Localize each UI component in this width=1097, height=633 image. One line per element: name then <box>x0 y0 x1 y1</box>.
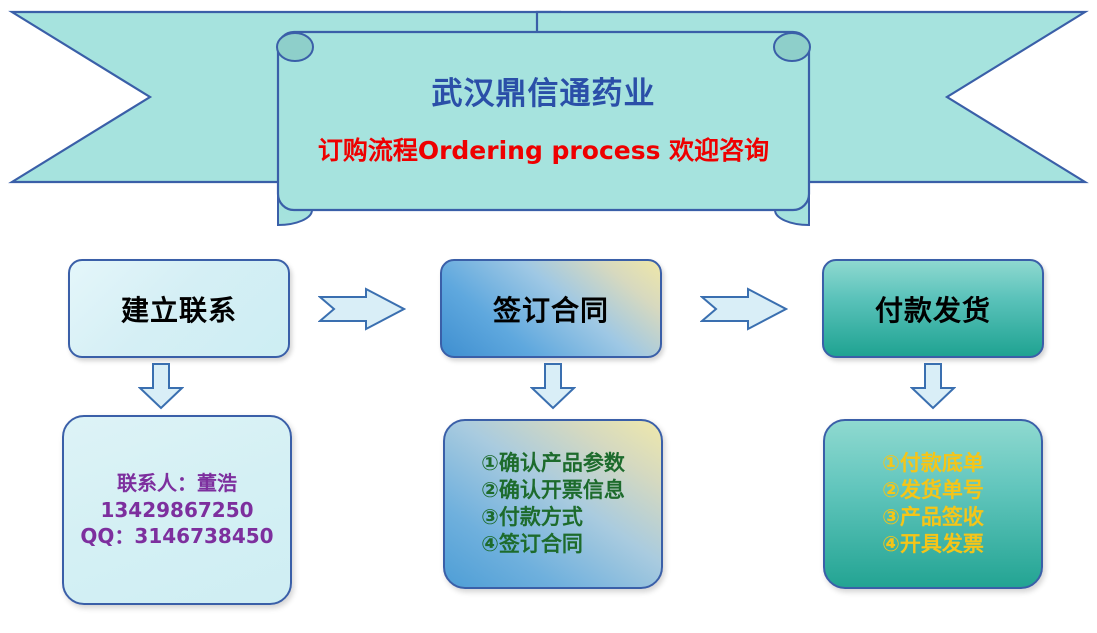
list-item: ①付款底单 <box>882 450 984 477</box>
arrow-down-icon <box>138 362 184 410</box>
list-item: ②发货单号 <box>882 477 984 504</box>
step-box-payment-shipping[interactable]: 付款发货 <box>822 259 1044 358</box>
payment-step-list: ①付款底单 ②发货单号 ③产品签收 ④开具发票 <box>882 450 984 558</box>
list-item: ③付款方式 <box>481 504 625 531</box>
list-item: ④开具发票 <box>882 531 984 558</box>
list-item: ④签订合同 <box>481 531 625 558</box>
contact-person-line: 联系人：董浩 <box>117 470 237 496</box>
step-box-sign-contract[interactable]: 签订合同 <box>440 259 662 358</box>
list-item: ②确认开票信息 <box>481 477 625 504</box>
detail-box-payment: ①付款底单 ②发货单号 ③产品签收 ④开具发票 <box>823 419 1043 589</box>
arrow-right-icon <box>700 287 788 331</box>
ribbon-left-fold-cap <box>277 33 313 61</box>
contact-phone-line: 13429867250 <box>100 497 253 523</box>
diagram-canvas: 武汉鼎信通药业 订购流程Ordering process 欢迎咨询 建立联系 签… <box>0 0 1097 633</box>
step-box-label: 建立联系 <box>121 289 237 329</box>
ribbon-shape <box>0 0 1097 232</box>
arrow-right-icon <box>318 287 406 331</box>
list-item: ③产品签收 <box>882 504 984 531</box>
contract-step-list: ①确认产品参数 ②确认开票信息 ③付款方式 ④签订合同 <box>481 450 625 558</box>
arrow-down-icon <box>910 362 956 410</box>
step-box-label: 付款发货 <box>875 289 991 329</box>
banner-ribbon: 武汉鼎信通药业 订购流程Ordering process 欢迎咨询 <box>0 0 1097 232</box>
detail-box-contact: 联系人：董浩 13429867250 QQ：3146738450 <box>62 415 292 605</box>
step-box-label: 签订合同 <box>493 289 609 329</box>
ribbon-right-fold-cap <box>774 33 810 61</box>
detail-box-contract: ①确认产品参数 ②确认开票信息 ③付款方式 ④签订合同 <box>443 419 663 589</box>
contact-qq-line: QQ：3146738450 <box>80 523 273 549</box>
arrow-down-icon <box>530 362 576 410</box>
ribbon-center-panel <box>278 32 809 210</box>
step-box-establish-contact[interactable]: 建立联系 <box>68 259 290 358</box>
list-item: ①确认产品参数 <box>481 450 625 477</box>
